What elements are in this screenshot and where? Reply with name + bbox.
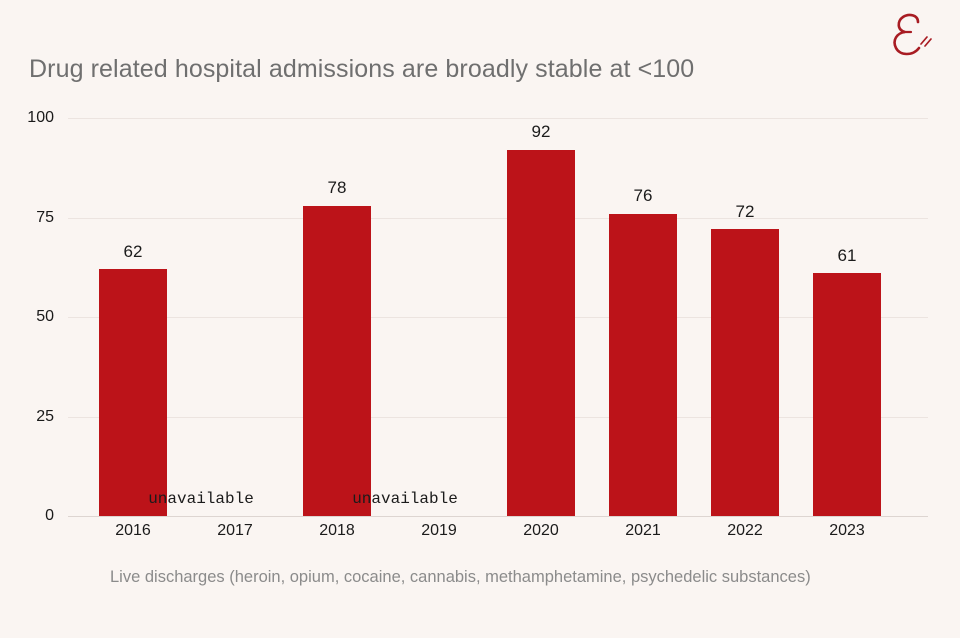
x-tick-label-2019: 2019 (394, 522, 484, 540)
bar-value-2022: 72 (705, 202, 785, 222)
chart-title: Drug related hospital admissions are bro… (29, 54, 694, 84)
y-tick-label-50: 50 (8, 308, 54, 326)
gridline-100 (68, 118, 928, 119)
bar-2023[interactable] (813, 273, 881, 516)
script-e-logo (878, 6, 938, 64)
bar-2016[interactable] (99, 269, 167, 516)
bar-2018[interactable] (303, 206, 371, 516)
chart-figure: Drug related hospital admissions are bro… (0, 0, 960, 638)
gridline-0 (68, 516, 928, 517)
bar-2021[interactable] (609, 214, 677, 517)
chart-caption: Live discharges (heroin, opium, cocaine,… (110, 568, 811, 587)
plot-area: 62 unavailable 78 unavailable 92 76 72 6… (68, 118, 928, 516)
bar-value-2023: 61 (807, 246, 887, 266)
gridline-50 (68, 317, 928, 318)
bar-value-2020: 92 (501, 122, 581, 142)
unavailable-note-2017: unavailable (136, 490, 266, 508)
y-axis: 100 75 50 25 0 (8, 118, 54, 516)
unavailable-note-2019: unavailable (340, 490, 470, 508)
bar-2020[interactable] (507, 150, 575, 516)
y-tick-label-75: 75 (8, 209, 54, 227)
x-tick-label-2018: 2018 (292, 522, 382, 540)
gridline-25 (68, 417, 928, 418)
x-axis: 2016 2017 2018 2019 2020 2021 2022 2023 (68, 522, 928, 548)
x-tick-label-2022: 2022 (700, 522, 790, 540)
y-tick-label-100: 100 (8, 109, 54, 127)
bar-value-2018: 78 (297, 178, 377, 198)
x-tick-label-2023: 2023 (802, 522, 892, 540)
bar-value-2016: 62 (93, 242, 173, 262)
y-tick-label-0: 0 (8, 507, 54, 525)
x-tick-label-2016: 2016 (88, 522, 178, 540)
bar-value-2021: 76 (603, 186, 683, 206)
y-tick-label-25: 25 (8, 408, 54, 426)
x-tick-label-2020: 2020 (496, 522, 586, 540)
x-tick-label-2017: 2017 (190, 522, 280, 540)
gridline-75 (68, 218, 928, 219)
bar-2022[interactable] (711, 229, 779, 516)
x-tick-label-2021: 2021 (598, 522, 688, 540)
